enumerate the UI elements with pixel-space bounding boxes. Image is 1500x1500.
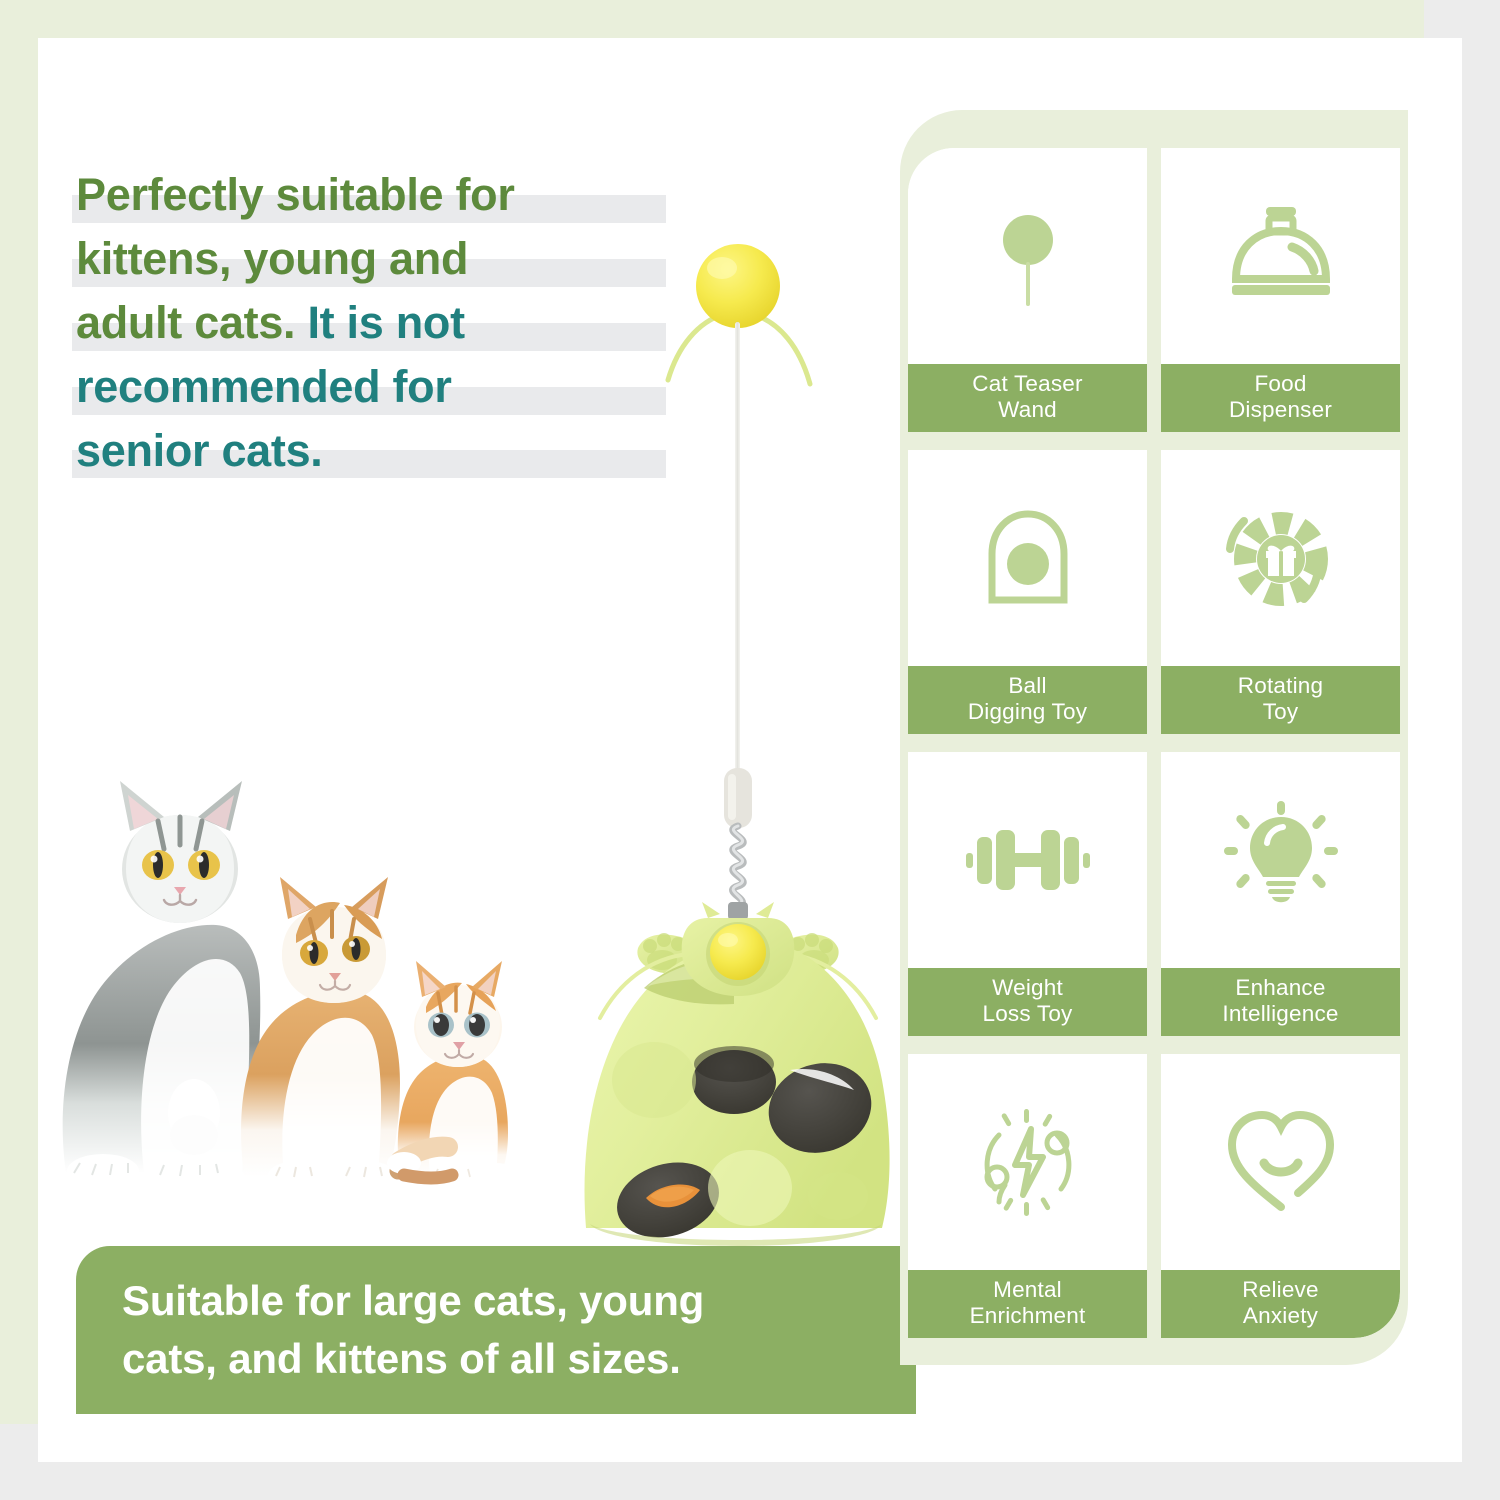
food-dome-icon [1161, 148, 1400, 364]
feature-label-line2: Anxiety [1163, 1303, 1398, 1329]
infographic-canvas: Perfectly suitable for kittens, young an… [38, 38, 1462, 1462]
feature-label: Mental Enrichment [908, 1270, 1147, 1338]
feature-card-food-dispenser[interactable]: Food Dispenser [1161, 148, 1400, 432]
headline-line-4-text: recommended for [76, 361, 452, 412]
bottom-banner: Suitable for large cats, young cats, and… [76, 1246, 916, 1414]
feature-label-line2: Loss Toy [910, 1001, 1145, 1027]
dimple-center [708, 1150, 792, 1226]
feature-label: Ball Digging Toy [908, 666, 1147, 734]
feature-label: Cat Teaser Wand [908, 364, 1147, 432]
smiling-heart-icon [1161, 1054, 1400, 1270]
cats-photo-group [48, 773, 558, 1213]
cat-small-kitten [387, 961, 518, 1189]
feature-label-line1: Enhance [1163, 975, 1398, 1001]
cat-teaser-wand-icon [908, 148, 1147, 364]
dumbbell-icon [908, 752, 1147, 968]
lightning-circle-icon [908, 1054, 1147, 1270]
feature-card-enhance-intelligence[interactable]: Enhance Intelligence [1161, 752, 1400, 1036]
feature-card-cat-teaser-wand[interactable]: Cat Teaser Wand [908, 148, 1147, 432]
feature-card-ball-digging-toy[interactable]: Ball Digging Toy [908, 450, 1147, 734]
feature-label-line2: Toy [1163, 699, 1398, 725]
feature-label-line1: Ball [910, 673, 1145, 699]
headline-line-1-text: Perfectly suitable for [76, 169, 515, 220]
features-grid: Cat Teaser Wand Food Disp [908, 148, 1400, 1338]
feature-card-mental-enrichment[interactable]: Mental Enrichment [908, 1054, 1147, 1338]
dimple-right [808, 1172, 868, 1220]
feature-label-line2: Enrichment [910, 1303, 1145, 1329]
feature-label-line2: Wand [910, 397, 1145, 423]
feature-label-line1: Mental [910, 1277, 1145, 1303]
screenshot-frame: Perfectly suitable for kittens, young an… [0, 0, 1500, 1500]
headline-line-3-olive: adult cats. [76, 297, 295, 348]
feature-card-rotating-toy[interactable]: Rotating Toy [1161, 450, 1400, 734]
banner-line-2: cats, and kittens of all sizes. [122, 1330, 880, 1388]
feature-label: Weight Loss Toy [908, 968, 1147, 1036]
headline-line-2-text: kittens, young and [76, 233, 468, 284]
feature-label-line1: Relieve [1163, 1277, 1398, 1303]
feature-card-weight-loss-toy[interactable]: Weight Loss Toy [908, 752, 1147, 1036]
feature-label-line2: Intelligence [1163, 1001, 1398, 1027]
product-illustration [538, 218, 938, 1248]
rotating-gear-gift-icon [1161, 450, 1400, 666]
feature-label: Food Dispenser [1161, 364, 1400, 432]
spring-connector [733, 826, 744, 906]
feature-label-line1: Food [1163, 371, 1398, 397]
feature-label-line1: Cat Teaser [910, 371, 1145, 397]
headline-line-5-text: senior cats. [76, 425, 323, 476]
cat-large-gray [63, 781, 261, 1189]
lightbulb-icon [1161, 752, 1400, 968]
feature-label-line1: Rotating [1163, 673, 1398, 699]
feature-label: Rotating Toy [1161, 666, 1400, 734]
feature-label-line1: Weight [910, 975, 1145, 1001]
headline-line-3-teal: It is not [295, 297, 465, 348]
whisker-strand-right [752, 314, 810, 384]
feature-label-line2: Dispenser [1163, 397, 1398, 423]
tumbler-cat-toy [538, 218, 938, 1248]
feature-card-relieve-anxiety[interactable]: Relieve Anxiety [1161, 1054, 1400, 1338]
feature-label: Enhance Intelligence [1161, 968, 1400, 1036]
ball-digging-icon [908, 450, 1147, 666]
feature-label: Relieve Anxiety [1161, 1270, 1400, 1338]
whisker-strand-left [668, 314, 724, 380]
cats-illustration [48, 773, 558, 1213]
feature-label-line2: Digging Toy [910, 699, 1145, 725]
dimple-left [612, 1042, 696, 1118]
banner-line-1: Suitable for large cats, young [122, 1272, 880, 1330]
housing-ball [710, 924, 766, 980]
teaser-ball [696, 244, 780, 328]
